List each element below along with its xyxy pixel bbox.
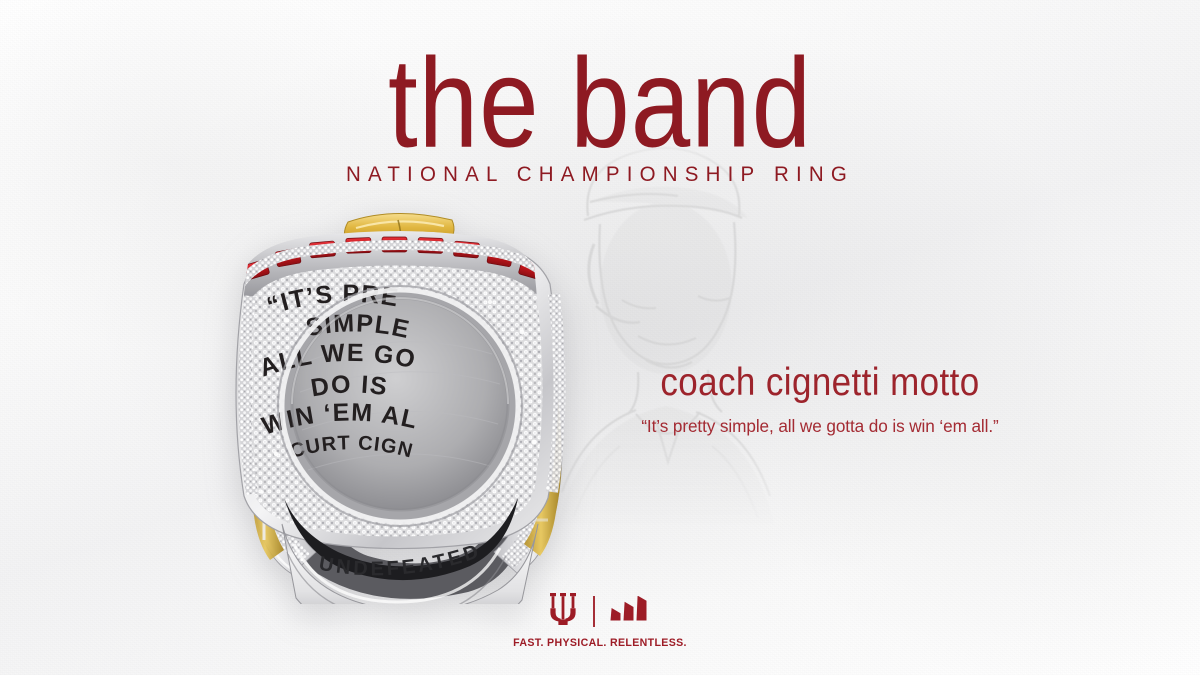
page-subtitle: NATIONAL CHAMPIONSHIP RING: [0, 163, 1200, 188]
footer-lockup: FAST. PHYSICAL. RELENTLESS.: [0, 594, 1200, 649]
page-title: the band: [6, 44, 1194, 161]
logo-divider: [593, 596, 595, 627]
motto-block: coach cignetti motto “It’s pretty simple…: [565, 364, 1075, 437]
motto-quote: “It’s pretty simple, all we gotta do is …: [565, 416, 1075, 437]
brand-tagline: FAST. PHYSICAL. RELENTLESS.: [513, 637, 687, 649]
indiana-university-trident-logo: [548, 593, 578, 630]
engraving-line-4: DO IS: [309, 370, 390, 402]
poster-canvas: the band NATIONAL CHAMPIONSHIP RING: [0, 0, 1200, 675]
adidas-three-stripes-logo: [610, 596, 652, 627]
logo-row: [548, 594, 652, 628]
championship-ring-image: “IT’S PRETTY SIMPLE, ALL WE GOTTA DO IS: [222, 192, 584, 604]
motto-title: coach cignetti motto: [565, 362, 1075, 404]
headline-lockup: the band NATIONAL CHAMPIONSHIP RING: [0, 44, 1200, 187]
ring-head: “IT’S PRETTY SIMPLE, ALL WE GOTTA DO IS: [222, 192, 560, 549]
